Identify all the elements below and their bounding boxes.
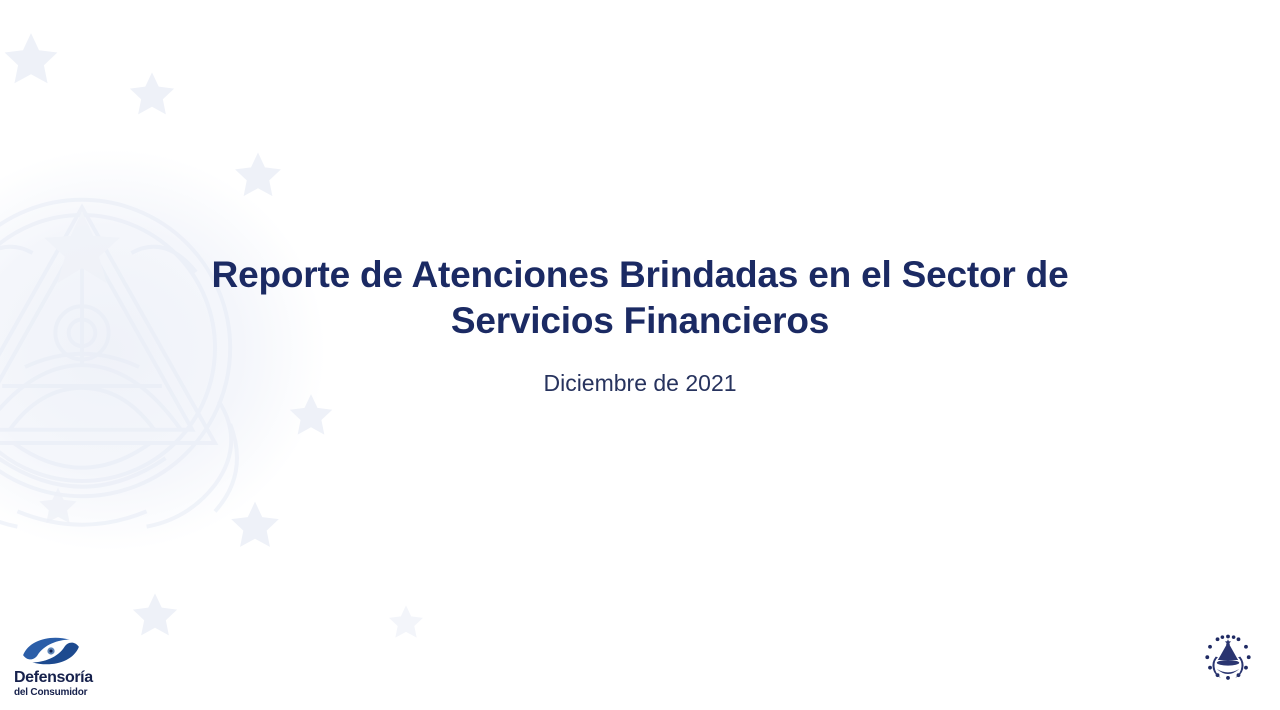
page-subtitle: Diciembre de 2021 bbox=[150, 368, 1130, 398]
slide-content: Reporte de Atenciones Brindadas en el Se… bbox=[0, 252, 1280, 398]
decorative-star-icon bbox=[36, 484, 80, 528]
decorative-star-icon bbox=[386, 602, 426, 642]
decorative-star-icon bbox=[0, 28, 62, 90]
title-slide: Reporte de Atenciones Brindadas en el Se… bbox=[0, 0, 1280, 710]
logo-name-sub: del Consumidor bbox=[14, 687, 122, 698]
el-salvador-coat-of-arms-icon bbox=[1200, 632, 1256, 688]
logo-name-main: Defensoría bbox=[14, 670, 122, 686]
page-title-line-1: Reporte de Atenciones Brindadas en el Se… bbox=[212, 254, 1069, 295]
page-title-line-2: Servicios Financieros bbox=[451, 300, 829, 341]
decorative-star-icon bbox=[129, 589, 181, 641]
decorative-star-icon bbox=[126, 68, 178, 120]
defensoria-logo: Defensoría del Consumidor bbox=[14, 634, 122, 698]
page-title: Reporte de Atenciones Brindadas en el Se… bbox=[195, 252, 1085, 344]
decorative-star-icon bbox=[231, 148, 285, 202]
decorative-star-icon bbox=[227, 497, 283, 553]
eye-swoosh-icon bbox=[20, 634, 82, 668]
